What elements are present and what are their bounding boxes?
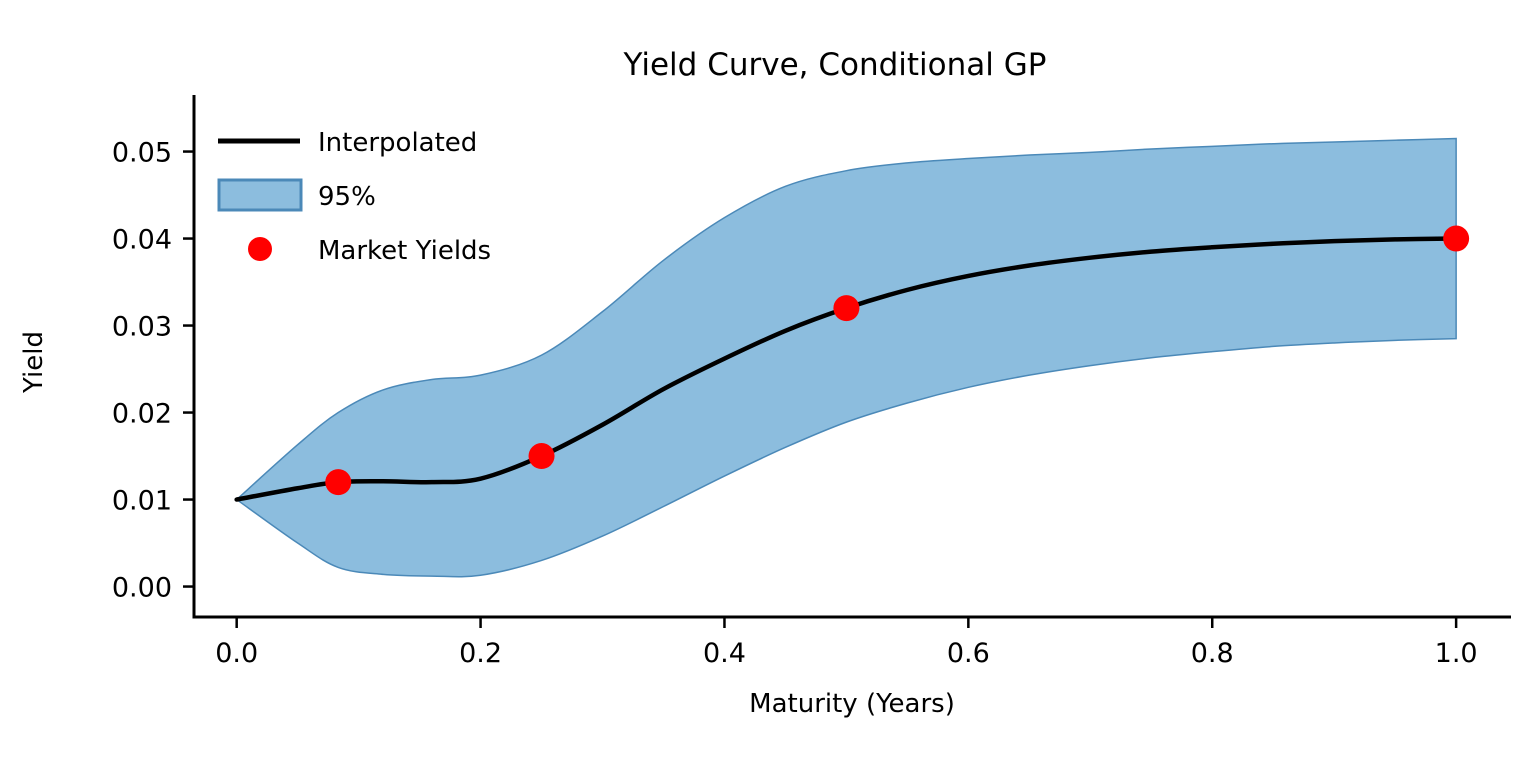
x-tick-label: 0.4 — [703, 638, 746, 669]
y-axis-tick-labels: 0.000.010.020.030.040.05 — [112, 138, 172, 604]
legend-dot-swatch — [248, 237, 272, 261]
x-tick-label: 0.6 — [947, 638, 990, 669]
y-axis-ticks — [183, 152, 194, 587]
chart-legend: Interpolated 95% Market Yields — [218, 128, 491, 266]
market-yield-point — [325, 469, 351, 495]
legend-label-market-yields: Market Yields — [318, 236, 491, 266]
y-tick-label: 0.00 — [112, 573, 172, 604]
chart-figure: Yield Curve, Conditional GP 0.00.20.40.6… — [0, 0, 1536, 768]
confidence-band-95 — [237, 139, 1456, 577]
market-yield-point — [529, 443, 555, 469]
x-tick-label: 0.8 — [1191, 638, 1234, 669]
x-axis-tick-labels: 0.00.20.40.60.81.0 — [215, 638, 1477, 669]
chart-title: Yield Curve, Conditional GP — [623, 47, 1047, 83]
y-axis-label: Yield — [19, 331, 49, 394]
legend-band-swatch — [219, 180, 301, 210]
y-tick-label: 0.04 — [112, 225, 172, 256]
market-yield-point — [833, 295, 859, 321]
x-tick-label: 0.0 — [215, 638, 258, 669]
y-tick-label: 0.01 — [112, 486, 172, 517]
legend-label-95: 95% — [318, 182, 376, 212]
x-axis-label: Maturity (Years) — [749, 689, 955, 719]
y-tick-label: 0.02 — [112, 399, 172, 430]
legend-label-interpolated: Interpolated — [318, 128, 477, 158]
x-tick-label: 1.0 — [1435, 638, 1478, 669]
y-tick-label: 0.03 — [112, 312, 172, 343]
x-tick-label: 0.2 — [459, 638, 502, 669]
x-axis-ticks — [237, 617, 1456, 628]
yield-curve-chart: Yield Curve, Conditional GP 0.00.20.40.6… — [0, 0, 1536, 768]
market-yield-point — [1443, 226, 1469, 252]
y-tick-label: 0.05 — [112, 138, 172, 169]
